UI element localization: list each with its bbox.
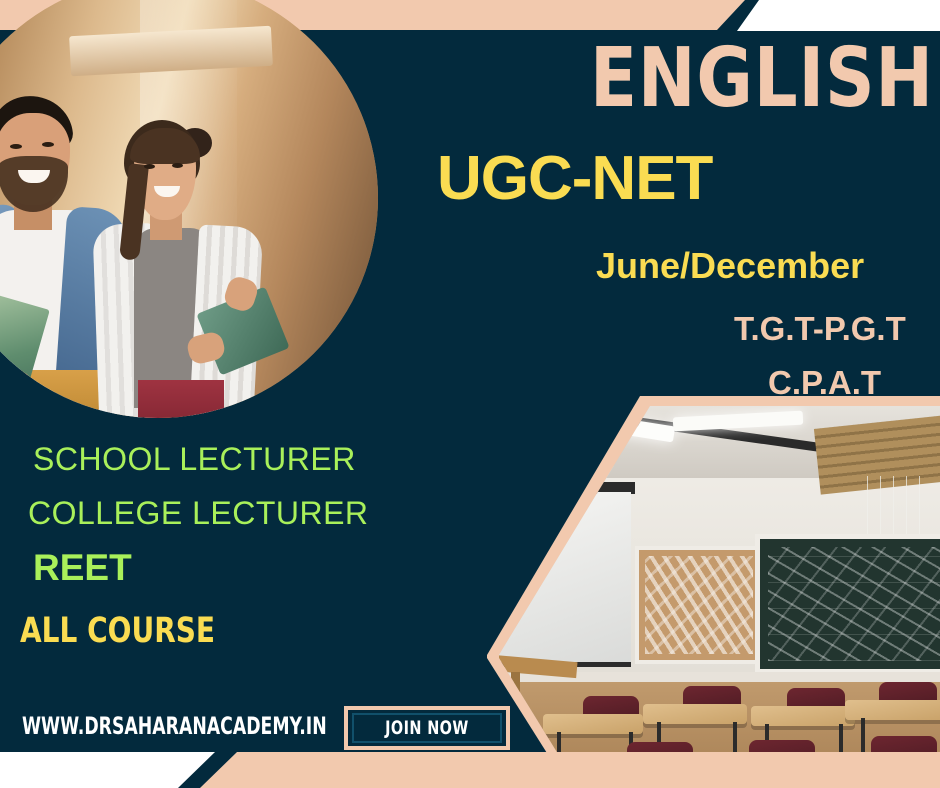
poster-canvas: ENGLISH UGC-NET June/December T.G.T-P.G.… <box>0 0 940 788</box>
classroom-desk <box>845 700 940 720</box>
students-photo <box>0 0 378 418</box>
male-student-eye-right <box>42 142 54 147</box>
course-school-lecturer: SCHOOL LECTURER <box>33 443 356 475</box>
female-student-eye-left <box>144 164 155 169</box>
join-now-button[interactable]: JOIN NOW <box>344 706 510 750</box>
projector-screen <box>487 492 631 667</box>
projector-icon <box>533 432 587 458</box>
female-student-eye-right <box>172 163 183 168</box>
website-url[interactable]: WWW.DRSAHARANACADEMY.IN <box>22 714 327 738</box>
female-student-pants <box>138 380 224 418</box>
course-reet: REET <box>33 549 132 586</box>
classroom-corkboard <box>635 546 763 664</box>
subject-title: ENGLISH <box>590 38 934 120</box>
projector-arm <box>551 404 561 436</box>
classroom-desk <box>543 714 643 734</box>
classroom-light-3 <box>487 461 587 491</box>
classroom-chalkboard <box>755 534 940 674</box>
classroom-photo <box>487 396 940 788</box>
bottom-peach-band <box>200 752 940 788</box>
join-now-label: JOIN NOW <box>385 717 468 739</box>
top-white-wedge <box>737 0 940 31</box>
classroom-desk <box>643 704 747 724</box>
exam-cpat: C.P.A.T <box>768 366 881 399</box>
classroom-photo-frame <box>487 396 940 788</box>
bottom-decorative-strip <box>0 752 940 788</box>
exam-tgt-pgt: T.G.T-P.G.T <box>734 312 906 345</box>
join-now-button-inner-frame: JOIN NOW <box>352 713 502 743</box>
session-label: June/December <box>596 248 864 284</box>
male-student-eye-left <box>10 144 22 149</box>
exam-title: UGC-NET <box>437 148 712 210</box>
classroom-desk <box>751 706 855 726</box>
course-all-course: ALL COURSE <box>20 614 215 649</box>
course-college-lecturer: COLLEGE LECTURER <box>28 497 369 529</box>
